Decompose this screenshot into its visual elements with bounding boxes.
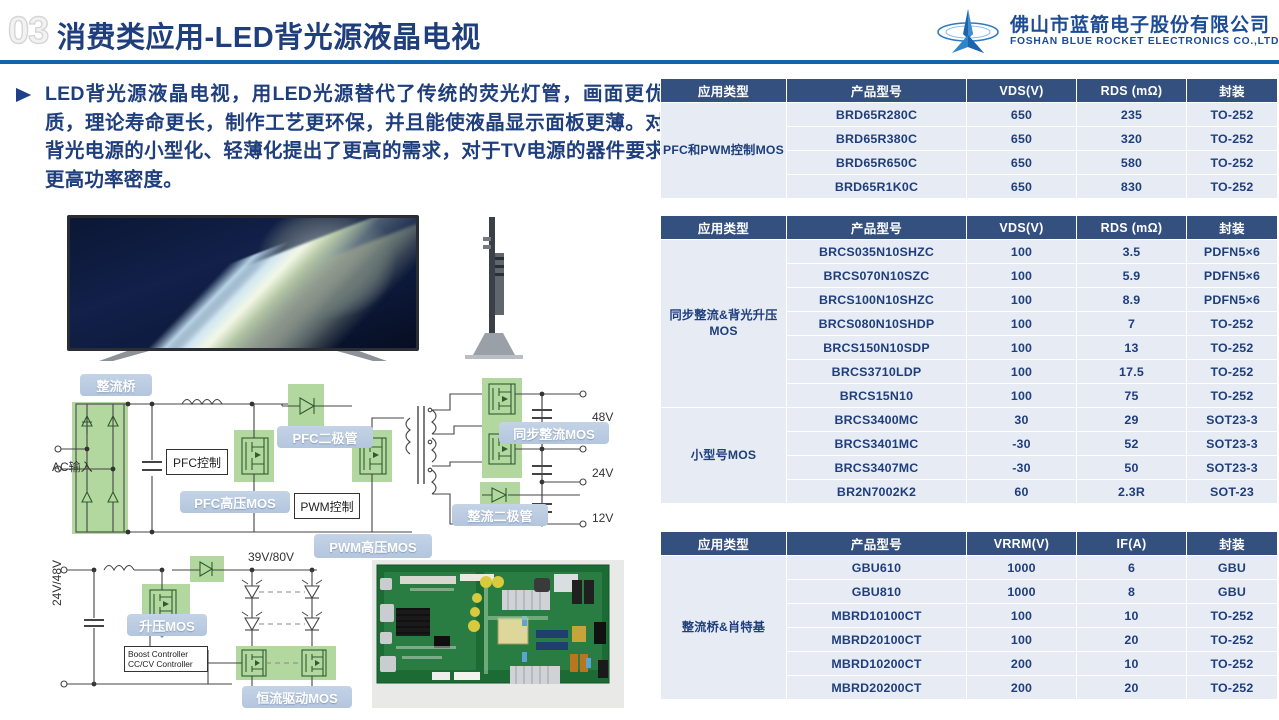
schematic-label: PFC控制 [166,449,228,475]
table-cell: GBU [1187,580,1278,604]
schematic-label: 整流二极管 [452,504,548,526]
schematic-annotation: 12V [592,511,613,525]
column-header: IF(A) [1077,532,1187,556]
table-cell: 17.5 [1077,360,1187,384]
table-cell: BRD65R380C [787,127,967,151]
table-cell: TO-252 [1187,151,1278,175]
table-cell: 100 [967,312,1077,336]
table-cell: -30 [967,456,1077,480]
table-cell: GBU [1187,556,1278,580]
company-name-en: FOSHAN BLUE ROCKET ELECTRONICS CO.,LTD. [1010,36,1279,47]
table-cell: 8.9 [1077,288,1187,312]
arrow-bullet-icon [14,85,36,105]
column-header: 封装 [1187,216,1278,240]
column-header: 产品型号 [787,79,967,103]
table-cell: BRCS3710LDP [787,360,967,384]
sync-rect-table: 应用类型产品型号VDS(V)RDS (mΩ)封装同步整流&背光升压MOSBRCS… [660,215,1278,504]
table-cell: TO-252 [1187,336,1278,360]
table-row: PFC和PWM控制MOSBRD65R280C650235TO-252 [661,103,1278,127]
led-driver-schematic: Boost ControllerCC/CV Controller 升压MOS恒流… [52,556,372,718]
table-cell: TO-252 [1187,604,1278,628]
power-supply-schematic: 整流桥PFC二极管PFC高压MOSPWM控制PFC控制PWM高压MOS同步整流M… [52,374,660,566]
table-cell: TO-252 [1187,127,1278,151]
table-cell: BRCS150N10SDP [787,336,967,360]
table-cell: BRCS035N10SHZC [787,240,967,264]
table-cell: GBU610 [787,556,967,580]
table-cell: 650 [967,103,1077,127]
table-cell: 100 [967,288,1077,312]
table-cell: 2.3R [1077,480,1187,504]
table-cell: TO-252 [1187,312,1278,336]
table-cell: MBRD10100CT [787,604,967,628]
table-cell: 60 [967,480,1077,504]
schematic-label: PWM高压MOS [314,534,432,558]
table-cell: 20 [1077,628,1187,652]
table-cell: 75 [1077,384,1187,408]
column-header: 应用类型 [661,532,787,556]
table-cell: 1000 [967,556,1077,580]
schematic-label: PFC二极管 [277,426,373,448]
schematic-annotation: 24V/48V [50,560,64,606]
table-cell: 100 [967,264,1077,288]
schematic-label: 同步整流MOS [499,422,609,444]
blue-rocket-logo-icon [932,8,1004,54]
table-cell: 100 [967,336,1077,360]
table-cell: 320 [1077,127,1187,151]
pfc-pwm-table: 应用类型产品型号VDS(V)RDS (mΩ)封装PFC和PWM控制MOSBRD6… [660,78,1278,199]
column-header: VDS(V) [967,216,1077,240]
table-cell: PDFN5×6 [1187,264,1278,288]
table-cell: BRCS3401MC [787,432,967,456]
table-cell: TO-252 [1187,175,1278,199]
table-cell: TO-252 [1187,676,1278,700]
table-cell: BRCS080N10SHDP [787,312,967,336]
column-header: VRRM(V) [967,532,1077,556]
company-name-cn: 佛山市蓝箭电子股份有限公司 [1010,10,1270,37]
column-header: 封装 [1187,532,1278,556]
table-row: 整流桥&肖特基GBU61010006GBU [661,556,1278,580]
table-cell: 650 [967,151,1077,175]
table-cell: BRD65R1K0C [787,175,967,199]
tv-photo [55,213,580,375]
table-header-row: 应用类型产品型号VDS(V)RDS (mΩ)封装 [661,79,1278,103]
section-number: 03 [8,12,48,50]
schematic-label: 整流桥 [80,374,152,396]
table-cell: 10 [1077,652,1187,676]
table-cell: 100 [967,628,1077,652]
table-cell: TO-252 [1187,628,1278,652]
schematic-label: PFC高压MOS [180,491,290,513]
table-cell: 650 [967,175,1077,199]
table-cell: 20 [1077,676,1187,700]
table-cell: 100 [967,360,1077,384]
table-cell: 650 [967,127,1077,151]
table-cell: 580 [1077,151,1187,175]
table-cell: BRD65R280C [787,103,967,127]
bridge-schottky-table: 应用类型产品型号VRRM(V)IF(A)封装整流桥&肖特基GBU61010006… [660,531,1278,700]
schematic-annotation: 24V [592,466,613,480]
column-header: 应用类型 [661,79,787,103]
table-cell: 8 [1077,580,1187,604]
application-type-cell: 整流桥&肖特基 [661,556,787,700]
table-cell: 30 [967,408,1077,432]
table-cell: 100 [967,604,1077,628]
table-cell: SOT23-3 [1187,432,1278,456]
schematic-label: 恒流驱动MOS [242,686,352,708]
table-cell: 7 [1077,312,1187,336]
schematic-annotation: AC输入 [52,458,93,475]
column-header: 产品型号 [787,532,967,556]
schematic-annotation: 39V/80V [248,550,294,564]
intro-paragraph: LED背光源液晶电视，用LED光源替代了传统的荧光灯管，画面更优质，理论寿命更长… [45,80,665,195]
table-cell: 10 [1077,604,1187,628]
controller-box: Boost ControllerCC/CV Controller [124,646,208,672]
table-cell: 200 [967,676,1077,700]
table-row: 小型号MOSBRCS3400MC3029SOT23-3 [661,408,1278,432]
column-header: RDS (mΩ) [1077,216,1187,240]
column-header: RDS (mΩ) [1077,79,1187,103]
schematic-label: 升压MOS [127,614,207,636]
application-type-cell: PFC和PWM控制MOS [661,103,787,199]
table-cell: PDFN5×6 [1187,288,1278,312]
schematic-label: PWM控制 [294,493,360,519]
table-cell: 200 [967,652,1077,676]
header-divider [0,60,1279,64]
table-cell: BRCS100N10SHZC [787,288,967,312]
table-cell: BRCS3400MC [787,408,967,432]
table-cell: TO-252 [1187,652,1278,676]
table-row: 同步整流&背光升压MOSBRCS035N10SHZC1003.5PDFN5×6 [661,240,1278,264]
table-cell: TO-252 [1187,103,1278,127]
table-cell: MBRD10200CT [787,652,967,676]
table-cell: SOT23-3 [1187,456,1278,480]
table-cell: BRD65R650C [787,151,967,175]
table-cell: 100 [967,384,1077,408]
pcb-image [372,560,624,708]
table-cell: BRCS15N10 [787,384,967,408]
application-type-cell: 同步整流&背光升压MOS [661,240,787,408]
table-cell: 5.9 [1077,264,1187,288]
table-cell: 100 [967,240,1077,264]
table-cell: TO-252 [1187,360,1278,384]
page-title: 消费类应用-LED背光源液晶电视 [57,14,481,56]
table-cell: PDFN5×6 [1187,240,1278,264]
table-cell: 830 [1077,175,1187,199]
column-header: 应用类型 [661,216,787,240]
table-cell: BR2N7002K2 [787,480,967,504]
table-cell: 13 [1077,336,1187,360]
tv-screen [70,218,416,348]
column-header: 产品型号 [787,216,967,240]
table-header-row: 应用类型产品型号VRRM(V)IF(A)封装 [661,532,1278,556]
column-header: VDS(V) [967,79,1077,103]
table-cell: -30 [967,432,1077,456]
table-cell: 1000 [967,580,1077,604]
table-cell: 235 [1077,103,1187,127]
table-cell: BRCS3407MC [787,456,967,480]
table-cell: MBRD20200CT [787,676,967,700]
pcb-photo [372,560,624,708]
table-cell: 50 [1077,456,1187,480]
table-header-row: 应用类型产品型号VDS(V)RDS (mΩ)封装 [661,216,1278,240]
application-type-cell: 小型号MOS [661,408,787,504]
tv-front-view [67,215,419,355]
tv-stand-front [99,351,387,362]
table-cell: GBU810 [787,580,967,604]
table-cell: SOT-23 [1187,480,1278,504]
schematic-annotation: 48V [592,410,613,424]
tv-side-view [453,213,533,363]
column-header: 封装 [1187,79,1278,103]
table-cell: SOT23-3 [1187,408,1278,432]
table-cell: TO-252 [1187,384,1278,408]
tv-bezel [67,215,419,351]
table-cell: 6 [1077,556,1187,580]
table-cell: 3.5 [1077,240,1187,264]
company-logo: 佛山市蓝箭电子股份有限公司 FOSHAN BLUE ROCKET ELECTRO… [932,8,1272,54]
table-cell: MBRD20100CT [787,628,967,652]
table-cell: BRCS070N10SZC [787,264,967,288]
table-cell: 52 [1077,432,1187,456]
table-cell: 29 [1077,408,1187,432]
slide-root: 03 消费类应用-LED背光源液晶电视 佛山市蓝箭电子股份有限公司 FOSHAN… [0,0,1279,720]
